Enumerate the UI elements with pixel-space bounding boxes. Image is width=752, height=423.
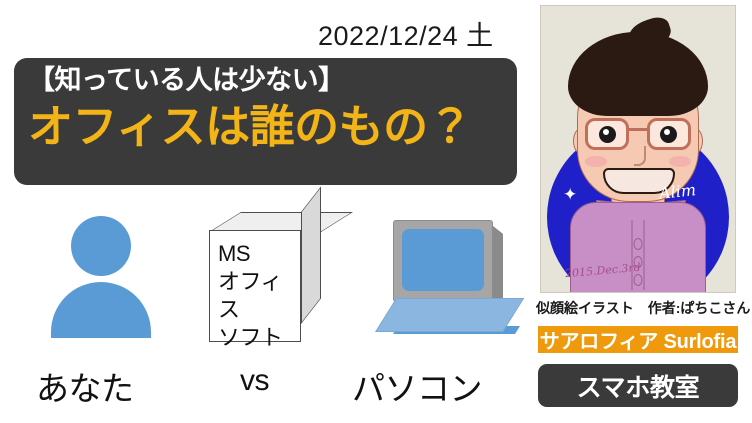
software-box-line-3: ソフト [218, 324, 301, 352]
person-head-shape [71, 216, 131, 276]
slide-canvas: 2022/12/24 土 【知っている人は少ない】 オフィスは誰のもの？ MS … [0, 0, 752, 423]
headline-main-text: オフィスは誰のもの？ [28, 99, 503, 155]
portrait-nose [634, 146, 646, 166]
caption-you: あなた [36, 362, 134, 410]
software-box-side-face [301, 186, 321, 324]
portrait-shirt-button [634, 274, 643, 286]
headline-panel: 【知っている人は少ない】 オフィスは誰のもの？ [14, 58, 517, 185]
software-box-icon: MS オフィス ソフト [209, 212, 321, 342]
portrait-credit: 似顔絵イラスト 作者:ぱちこさん [536, 298, 750, 318]
portrait-eye-left [599, 126, 616, 143]
software-box-top-face [209, 212, 353, 232]
person-body-shape [51, 282, 151, 338]
portrait-cheek-left [585, 156, 607, 167]
laptop-base [375, 298, 524, 332]
software-box-text: MS オフィス ソフト [213, 240, 301, 353]
portrait-cheek-right [669, 156, 691, 167]
person-icon [47, 216, 155, 338]
portrait-glasses-bridge [629, 128, 647, 131]
star-icon: ✦ [563, 186, 577, 203]
laptop-screen [402, 229, 484, 291]
slide-date: 2022/12/24 土 [318, 14, 494, 53]
portrait-shirt-button [634, 238, 643, 250]
software-box-line-2: オフィス [218, 268, 301, 324]
portrait-eye-right [660, 126, 677, 143]
laptop-icon [375, 220, 515, 340]
class-badge: スマホ教室 [538, 364, 738, 407]
caption-pc: パソコン [352, 362, 482, 410]
caricature-portrait: ✦ Alim 2015.Dec.3rd [540, 5, 736, 293]
brand-badge: サアロフィア Surlofia [538, 326, 738, 353]
caption-versus: vs [240, 364, 269, 398]
portrait-signature: Alim [658, 180, 697, 203]
software-box-line-1: MS [218, 240, 301, 268]
headline-bracket-text: 【知っている人は少ない】 [28, 65, 503, 97]
